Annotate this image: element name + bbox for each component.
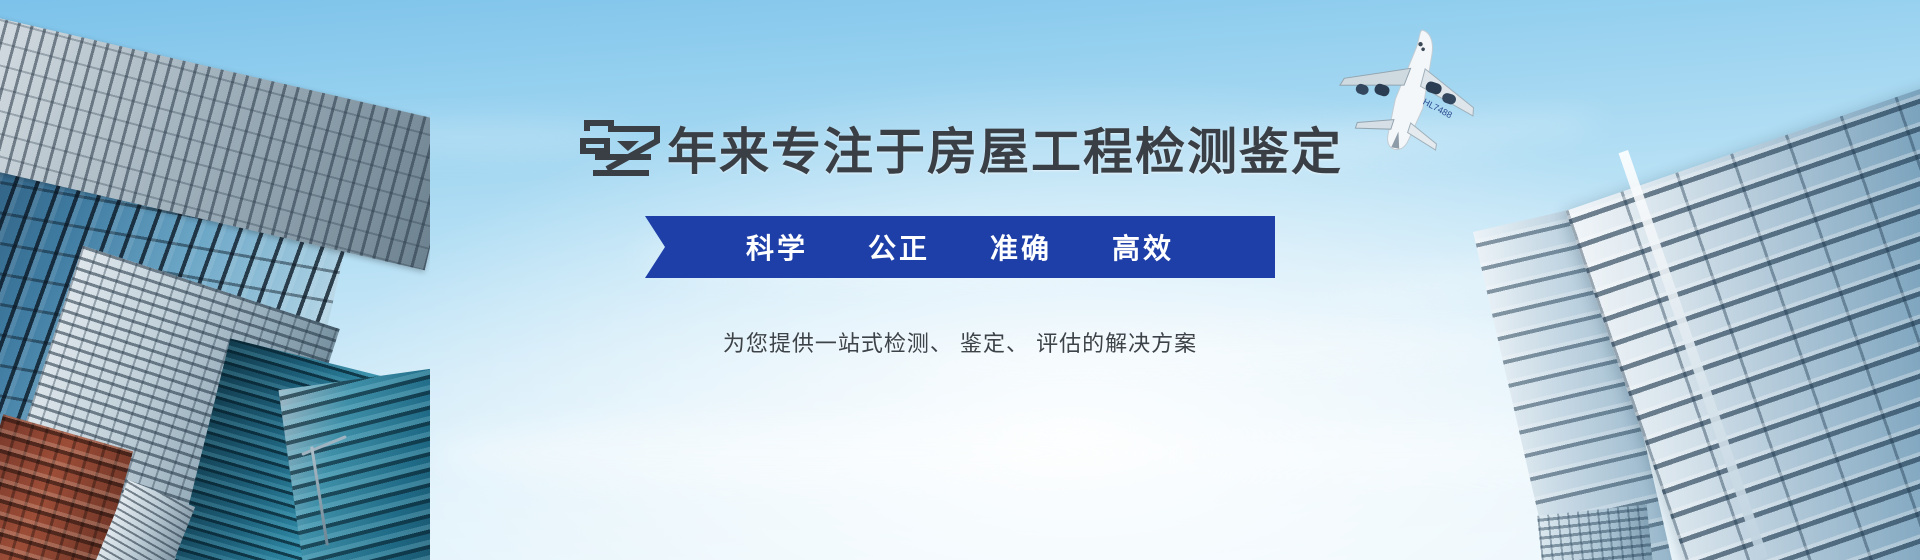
hero-banner: HL7488 年来专注于房屋工程检测鉴定 科学 公正 准确 xyxy=(0,0,1920,560)
keyword-item: 公正 xyxy=(868,227,930,267)
headline-text: 年来专注于房屋工程检测鉴定 xyxy=(667,124,1343,180)
keywords-ribbon: 科学 公正 准确 高效 xyxy=(645,216,1275,278)
keyword-item: 科学 xyxy=(746,227,808,267)
keywords-list: 科学 公正 准确 高效 xyxy=(746,227,1174,267)
headline: 年来专注于房屋工程检测鉴定 xyxy=(577,118,1343,180)
banner-content: 年来专注于房屋工程检测鉴定 科学 公正 准确 高效 为您提供一站式检测、 鉴定、… xyxy=(0,0,1920,560)
stylized-duo-character-icon xyxy=(577,117,665,179)
subtitle-text: 为您提供一站式检测、 鉴定、 评估的解决方案 xyxy=(723,326,1197,358)
keyword-item: 准确 xyxy=(990,227,1052,267)
keyword-item: 高效 xyxy=(1112,227,1174,267)
